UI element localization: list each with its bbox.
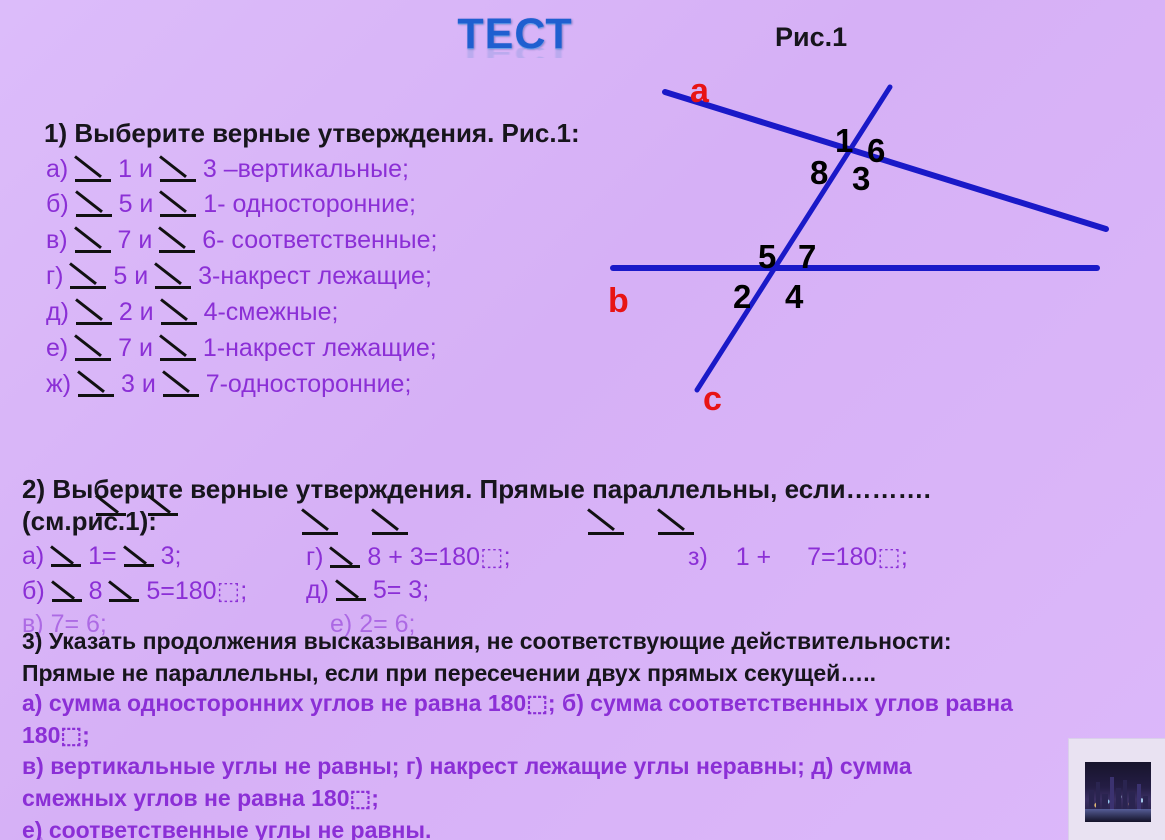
line-label-b: b — [608, 282, 629, 321]
angle-icon — [75, 334, 111, 361]
question3-item-b-cont[interactable]: 180⬚; — [22, 722, 90, 749]
slide-canvas: ТЕСТ ТЕСТ Рис.1 a b c 1 6 8 3 5 7 2 4 1)… — [0, 0, 1165, 840]
q1-item-d-marker: д) — [46, 298, 69, 326]
q2-item-a-marker: а) — [22, 542, 44, 570]
q1-item-v[interactable]: в) 7 и 6- соответственные; — [46, 226, 437, 255]
geometry-figure: a b c 1 6 8 3 5 7 2 4 — [595, 60, 1165, 420]
q2-item-g-tail: 3=180⬚; — [410, 543, 511, 571]
q1-item-a-marker: а) — [46, 155, 68, 183]
q1-item-v-marker: в) — [46, 226, 68, 254]
q1-item-b-pre: 5 и — [119, 190, 154, 218]
q1-item-b-post: 1- односторонние; — [203, 190, 416, 218]
angle-icon — [160, 190, 196, 217]
q1-item-zh-marker: ж) — [46, 370, 71, 398]
q2-item-b-tail: 5=180⬚; — [146, 577, 247, 605]
angle-number-8: 8 — [810, 154, 828, 192]
figure-caption: Рис.1 — [775, 22, 847, 53]
q2-item-z[interactable]: з) 1 + 7=180⬚; — [688, 542, 908, 572]
angle-icon — [76, 298, 112, 325]
q1-item-zh-pre: 3 и — [121, 370, 156, 398]
line-label-c: c — [703, 380, 722, 419]
question3-item-a-b[interactable]: а) сумма односторонних углов не равна 18… — [22, 690, 1013, 717]
angle-icon — [336, 579, 366, 601]
q2-item-b[interactable]: б) 8 5=180⬚; — [22, 576, 247, 606]
q1-item-e-marker: е) — [46, 334, 68, 362]
q2-item-d[interactable]: д) 5= 3; — [306, 576, 429, 605]
question3-item-d-cont[interactable]: смежных углов не равна 180⬚; — [22, 785, 379, 812]
angle-number-1: 1 — [835, 122, 853, 160]
q1-item-a[interactable]: а) 1 и 3 –вертикальные; — [46, 155, 409, 184]
q1-item-zh[interactable]: ж) 3 и 7-односторонние; — [46, 370, 411, 399]
q1-item-g-pre: 5 и — [113, 262, 148, 290]
angle-icon — [159, 226, 195, 253]
angle-number-7: 7 — [798, 238, 816, 276]
q2-item-d-marker: д) — [306, 576, 329, 604]
q2-item-a[interactable]: а) 1= 3; — [22, 542, 181, 571]
title-reflection: ТЕСТ — [425, 48, 605, 58]
angle-icon — [51, 545, 81, 567]
angle-number-4: 4 — [785, 278, 803, 316]
q1-item-g-marker: г) — [46, 262, 63, 290]
angle-icon — [163, 370, 199, 397]
page-title: ТЕСТ ТЕСТ — [425, 12, 605, 70]
q2-item-d-tail: 3; — [408, 576, 429, 604]
q2-item-g-text: 8 + — [367, 543, 402, 571]
q2-item-d-text: 5= — [373, 576, 402, 604]
q1-item-g[interactable]: г) 5 и 3-накрест лежащие; — [46, 262, 432, 291]
q1-item-v-post: 6- соответственные; — [202, 226, 437, 254]
q1-item-a-post: 3 –вертикальные; — [203, 155, 409, 183]
line-a — [665, 92, 1106, 229]
angle-icon — [161, 298, 197, 325]
angle-number-5: 5 — [758, 238, 776, 276]
angle-icon — [148, 494, 178, 516]
angle-icon — [155, 262, 191, 289]
q1-item-e[interactable]: е) 7 и 1-накрест лежащие; — [46, 334, 437, 363]
angle-icon — [124, 545, 154, 567]
q1-item-v-pre: 7 и — [118, 226, 153, 254]
angle-icon — [302, 508, 338, 535]
q2-item-g[interactable]: г) 8 + 3=180⬚; — [306, 542, 511, 572]
q1-item-g-post: 3-накрест лежащие; — [198, 262, 432, 290]
q1-item-d[interactable]: д) 2 и 4-смежные; — [46, 298, 338, 327]
angle-icon — [52, 580, 82, 602]
city-skyline-thumbnail[interactable] — [1085, 762, 1151, 822]
q1-item-zh-post: 7-односторонние; — [206, 370, 412, 398]
q2-item-z-marker: з) — [688, 543, 708, 571]
angle-icon — [588, 508, 624, 535]
q1-item-a-pre: 1 и — [118, 155, 153, 183]
question3-item-v-g-d[interactable]: в) вертикальные углы не равны; г) накрес… — [22, 753, 912, 780]
q2-item-b-text: 8 — [89, 577, 103, 605]
q2-item-z-tail: 7=180⬚; — [807, 543, 908, 571]
angle-icon — [160, 334, 196, 361]
q1-item-d-pre: 2 и — [119, 298, 154, 326]
question1-heading: 1) Выберите верные утверждения. Рис.1: — [44, 118, 580, 149]
angle-icon — [75, 226, 111, 253]
question2-heading-line2: (см.рис.1): — [22, 506, 157, 537]
q2-item-g-marker: г) — [306, 543, 323, 571]
figure-svg — [595, 60, 1165, 420]
q2-item-a-tail: 3; — [161, 542, 182, 570]
angle-number-3: 3 — [852, 160, 870, 198]
question3-heading-line1: 3) Указать продолжения высказывания, не … — [22, 628, 952, 655]
angle-icon — [76, 190, 112, 217]
q2-item-b-marker: б) — [22, 577, 45, 605]
angle-icon — [160, 155, 196, 182]
line-label-a: a — [690, 72, 709, 111]
angle-icon — [75, 155, 111, 182]
angle-icon — [109, 580, 139, 602]
angle-number-2: 2 — [733, 278, 751, 316]
angle-icon — [78, 370, 114, 397]
question3-cut-line: ж) односторонние углы не равны. — [22, 833, 412, 840]
q1-item-b-marker: б) — [46, 190, 69, 218]
water-reflection — [1085, 809, 1151, 822]
q1-item-b[interactable]: б) 5 и 1- односторонние; — [46, 190, 416, 219]
angle-icon — [70, 262, 106, 289]
thumbnail-panel[interactable] — [1068, 738, 1165, 840]
angle-icon — [658, 508, 694, 535]
angle-icon — [96, 494, 126, 516]
q2-item-z-text: 1 + — [736, 543, 771, 571]
q1-item-d-post: 4-смежные; — [204, 298, 339, 326]
q1-item-e-pre: 7 и — [118, 334, 153, 362]
q1-item-e-post: 1-накрест лежащие; — [203, 334, 437, 362]
angle-icon — [372, 508, 408, 535]
q2-item-a-text: 1= — [88, 542, 117, 570]
question3-heading-line2: Прямые не параллельны, если при пересече… — [22, 660, 876, 687]
angle-icon — [330, 546, 360, 568]
